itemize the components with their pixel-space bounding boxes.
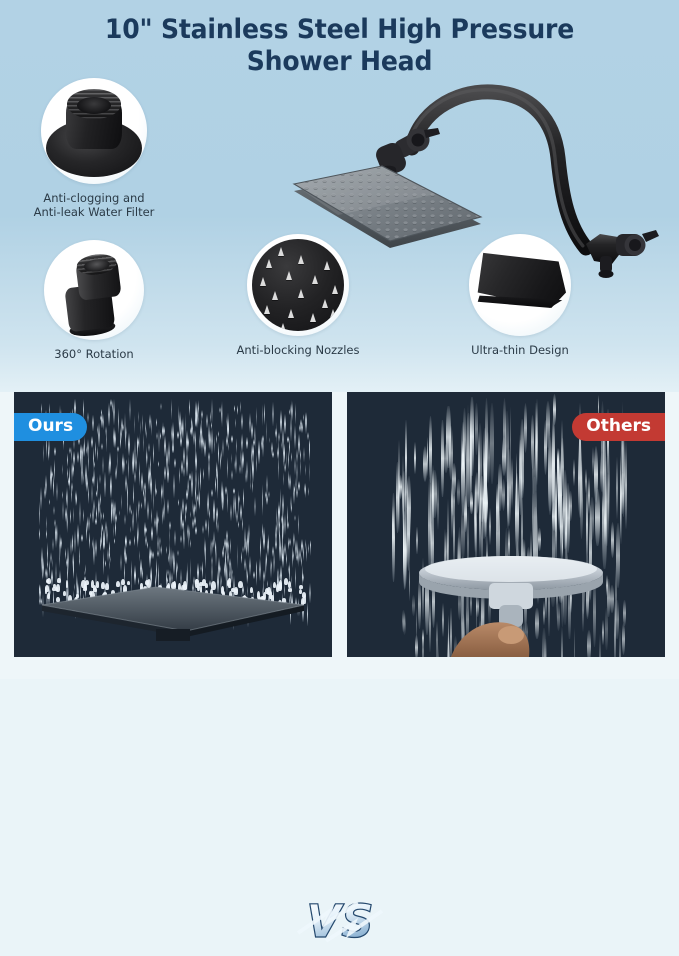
water-drop (234, 405, 235, 413)
page-title: 10" Stainless Steel High Pressure Shower… (24, 14, 655, 78)
water-stream (465, 466, 467, 540)
water-drop (264, 403, 265, 425)
water-drop (242, 451, 244, 469)
water-stream (486, 432, 490, 484)
water-drop (119, 510, 121, 517)
water-drop (85, 464, 87, 487)
water-drop (39, 528, 40, 540)
water-drop (95, 539, 97, 557)
water-drop (238, 521, 239, 528)
water-drop (114, 430, 116, 448)
water-drop (208, 518, 209, 538)
comparison-panel-others: Others (347, 392, 665, 657)
water-stream (605, 457, 609, 546)
water-drop (292, 545, 293, 568)
water-drop (238, 495, 240, 503)
water-stream (392, 493, 395, 583)
water-drop (256, 452, 258, 474)
water-drop (275, 524, 277, 546)
water-drop (74, 530, 76, 553)
water-drop (129, 539, 131, 546)
water-drop (156, 418, 157, 427)
feature-label-ultra-thin: Ultra-thin Design (440, 343, 600, 357)
water-drop (171, 399, 172, 420)
water-drop (193, 503, 195, 518)
water-drop (67, 511, 68, 533)
water-drop (131, 560, 132, 583)
water-drop (80, 444, 82, 459)
water-stream (414, 442, 416, 474)
water-drop (253, 571, 255, 579)
water-drop (142, 567, 143, 580)
water-drop (52, 538, 54, 551)
water-drop (304, 483, 306, 495)
water-drop (211, 428, 213, 454)
water-drop (69, 447, 71, 454)
water-drop (219, 565, 220, 573)
water-drop (140, 420, 142, 435)
water-drop (191, 420, 193, 437)
water-drop (243, 488, 244, 509)
water-drop (60, 537, 62, 549)
water-drop (231, 453, 233, 464)
water-drop (258, 440, 260, 465)
water-drop (164, 466, 166, 480)
water-drop (178, 499, 180, 506)
water-drop (241, 413, 243, 430)
feature-label-anti-clogging-filter: Anti-clogging and Anti-leak Water Filter (14, 191, 174, 219)
water-drop (100, 536, 102, 545)
water-drop (231, 435, 233, 443)
water-drop (222, 486, 223, 503)
water-drop (195, 401, 197, 426)
water-stream (573, 459, 575, 486)
water-drop (287, 436, 289, 443)
water-drop (44, 512, 45, 531)
water-drop (75, 490, 77, 506)
swivel-connector-icon (44, 240, 144, 340)
water-stream (520, 419, 524, 498)
water-drop (128, 433, 130, 456)
nozzle-cone (272, 291, 278, 300)
water-drop (99, 474, 101, 484)
water-drop (162, 426, 164, 436)
water-drop (262, 492, 264, 515)
water-drop (256, 407, 257, 426)
water-drop (246, 541, 247, 556)
water-stream (511, 458, 513, 508)
water-drop (156, 488, 157, 495)
water-drop (205, 519, 207, 531)
water-drop (186, 430, 188, 454)
water-drop (305, 464, 306, 476)
water-drop (114, 538, 115, 544)
water-drop (242, 517, 243, 531)
water-drop (159, 537, 160, 559)
water-drop (177, 562, 178, 573)
water-drop (124, 545, 126, 562)
nozzle-cone (278, 247, 284, 256)
water-drop (117, 446, 119, 452)
water-drop (249, 556, 251, 576)
water-drop (180, 535, 182, 543)
water-drop (148, 443, 149, 452)
water-stream-lower (403, 613, 406, 635)
water-drop (183, 465, 185, 477)
water-drop (85, 564, 86, 575)
water-stream-lower (615, 600, 618, 639)
water-drop (298, 434, 300, 455)
water-drop (211, 489, 213, 497)
water-drop (100, 493, 101, 507)
water-drop (266, 420, 267, 443)
water-drop (274, 551, 275, 573)
water-drop (303, 447, 305, 462)
water-drop (53, 506, 55, 515)
water-drop (152, 551, 154, 559)
water-drop (296, 487, 297, 497)
water-drop (161, 544, 163, 556)
water-drop (289, 538, 291, 546)
water-drop (149, 467, 151, 481)
water-drop (90, 512, 92, 520)
water-drop (218, 431, 219, 437)
water-drop (189, 399, 190, 416)
water-stream (470, 492, 473, 515)
water-drop (67, 547, 69, 573)
water-filter-connector-icon (41, 78, 147, 184)
water-drop (70, 509, 71, 524)
water-drop (141, 472, 143, 492)
water-drop (182, 417, 184, 440)
water-drop (166, 546, 168, 554)
water-stream (402, 456, 404, 530)
water-drop (138, 500, 140, 511)
water-drop (173, 474, 175, 498)
nozzle-cone (260, 277, 266, 286)
water-drop (309, 438, 310, 462)
water-drop (205, 549, 206, 569)
water-drop (62, 501, 64, 520)
water-stream-lower (623, 600, 626, 626)
vs-graphic: VS (296, 889, 384, 951)
water-drop (134, 535, 135, 546)
water-drop (212, 539, 214, 548)
water-drop (79, 558, 80, 565)
water-drop (73, 507, 74, 523)
water-drop (282, 427, 284, 452)
water-drop (183, 447, 184, 466)
water-drop (242, 546, 244, 553)
nozzle-cone (298, 289, 304, 298)
water-drop (151, 526, 153, 541)
water-drop (259, 558, 261, 581)
water-drop (104, 472, 105, 497)
water-drop (91, 483, 93, 504)
water-stream (407, 476, 411, 540)
water-drop (289, 409, 290, 416)
top-section: 10" Stainless Steel High Pressure Shower… (0, 0, 679, 392)
water-drop (294, 486, 295, 493)
water-drop (49, 560, 51, 577)
badge-ours: Ours (14, 413, 87, 441)
water-drop (263, 533, 265, 550)
water-drop (97, 476, 98, 498)
water-drop (230, 504, 232, 521)
water-drop (145, 527, 147, 534)
water-drop (248, 524, 250, 543)
water-drop (308, 487, 309, 496)
water-drop (40, 487, 42, 511)
water-drop (65, 548, 66, 559)
badge-others: Others (572, 413, 665, 441)
water-stream (437, 479, 440, 530)
water-stream-lower (611, 522, 615, 557)
water-drop (284, 399, 285, 413)
water-drop (117, 450, 118, 472)
water-drop (83, 472, 84, 484)
comparison-section: Ours (0, 392, 679, 679)
water-drop (113, 399, 115, 425)
nozzle-cone (322, 299, 328, 308)
water-drop (56, 482, 58, 501)
water-drop (269, 437, 271, 443)
water-stream (482, 497, 486, 539)
water-drop (95, 518, 97, 525)
water-drop (228, 442, 230, 452)
water-drop (195, 526, 197, 535)
water-drop (225, 486, 227, 495)
water-drop (62, 491, 63, 499)
water-drop (110, 556, 111, 563)
water-drop (113, 524, 114, 539)
feature-label-nozzles: Anti-blocking Nozzles (218, 343, 378, 357)
water-drop (97, 446, 98, 462)
water-drop (98, 423, 99, 447)
water-drop (222, 548, 224, 558)
shower-head-ours (36, 581, 310, 641)
water-drop (141, 502, 142, 509)
water-drop (129, 399, 131, 421)
water-drop (294, 515, 296, 521)
feature-label-rotation: 360° Rotation (14, 347, 174, 361)
water-drop (203, 468, 204, 480)
water-drop (151, 508, 152, 524)
water-drop (271, 442, 272, 455)
water-drop (295, 403, 296, 425)
water-stream (470, 397, 473, 476)
water-drop (237, 544, 239, 570)
water-drop (92, 507, 93, 523)
water-drop (191, 471, 193, 497)
water-drop (43, 444, 44, 462)
water-drop (292, 426, 293, 443)
water-drop (202, 561, 204, 579)
water-drop (128, 456, 129, 480)
water-drop (237, 405, 238, 415)
water-drop (145, 421, 146, 436)
comparison-panel-ours: Ours (14, 392, 332, 657)
water-drop (149, 414, 151, 429)
water-drop (130, 526, 131, 533)
nozzle-cone (310, 313, 316, 322)
water-drop (217, 475, 219, 500)
water-drop (53, 474, 54, 497)
water-drop (278, 438, 280, 459)
water-drop (291, 452, 292, 462)
water-drop (174, 530, 176, 546)
water-drop (73, 451, 75, 466)
nozzle-cone (330, 309, 336, 318)
water-drop (252, 456, 254, 482)
water-drop (156, 510, 158, 536)
water-drop (186, 451, 188, 476)
water-drop (217, 507, 218, 517)
water-drop (125, 426, 127, 439)
water-drop (287, 521, 289, 529)
water-stream (423, 446, 428, 482)
water-drop (115, 513, 117, 523)
water-drop (268, 491, 270, 499)
water-drop (120, 434, 121, 450)
water-drop (213, 499, 215, 522)
water-drop (127, 492, 128, 516)
water-drop (215, 543, 217, 566)
water-drop (239, 464, 241, 474)
water-drop (309, 462, 310, 482)
water-drop (242, 433, 244, 452)
water-drop (100, 415, 102, 421)
water-drop (250, 482, 252, 491)
water-drop (138, 527, 139, 542)
water-drop (201, 410, 203, 420)
water-drop (83, 509, 84, 522)
water-drop (147, 501, 149, 521)
water-drop (235, 453, 237, 474)
water-drop (158, 461, 159, 467)
water-drop (95, 441, 97, 458)
water-drop (121, 418, 123, 433)
water-drop (292, 401, 293, 421)
water-drop (147, 541, 148, 550)
water-drop (291, 503, 292, 513)
water-drop (305, 412, 307, 428)
water-drop (260, 536, 261, 559)
water-drop (204, 439, 206, 458)
nozzle-cone (266, 259, 272, 268)
water-drop (73, 552, 74, 573)
water-drop (89, 532, 90, 549)
water-drop (275, 428, 277, 438)
nozzle-cone (280, 323, 286, 331)
water-drop (71, 460, 73, 482)
water-drop (240, 401, 241, 413)
water-stream (429, 416, 432, 483)
water-drop (79, 501, 81, 527)
water-drop (92, 476, 94, 484)
water-drop (45, 568, 47, 578)
water-drop (172, 550, 174, 564)
water-drop (77, 524, 79, 547)
water-drop (81, 460, 83, 485)
water-stream (502, 479, 506, 511)
water-drop (54, 447, 56, 456)
water-drop (150, 549, 152, 559)
water-drop (154, 517, 156, 528)
water-drop (301, 539, 303, 554)
water-drop (49, 499, 50, 505)
water-drop (138, 411, 139, 423)
water-stream (524, 403, 527, 453)
water-drop (67, 453, 68, 467)
water-drop (52, 558, 53, 568)
water-drop (121, 494, 123, 511)
water-drop (289, 474, 291, 491)
water-drop (77, 451, 79, 463)
water-drop (294, 425, 296, 448)
water-drop (305, 539, 306, 550)
water-drop (190, 511, 192, 518)
water-drop (284, 543, 286, 557)
page-title-line1: 10" Stainless Steel High Pressure (105, 14, 574, 45)
water-drop (303, 414, 304, 421)
water-drop (108, 459, 110, 476)
water-drop (296, 461, 298, 484)
water-drop (134, 415, 135, 434)
water-drop (189, 526, 190, 541)
water-drop (300, 449, 302, 461)
shower-head-others (411, 539, 611, 657)
feature-anti-clogging-filter: Anti-clogging and Anti-leak Water Filter (14, 78, 174, 219)
water-stream (531, 415, 534, 469)
water-stream-lower (622, 623, 626, 655)
water-drop (202, 525, 204, 534)
feature-rotation: 360° Rotation (14, 240, 174, 361)
nozzle-cone (264, 305, 270, 314)
water-drop (133, 483, 134, 504)
water-drop (160, 403, 162, 410)
water-drop (230, 538, 231, 555)
water-drop (105, 560, 106, 568)
water-drop (169, 542, 170, 566)
water-drop (83, 443, 84, 457)
water-drop (139, 433, 140, 454)
water-drop (235, 418, 237, 427)
water-drop (87, 516, 88, 531)
water-drop (209, 508, 211, 520)
water-drop (94, 461, 96, 468)
water-drop (208, 490, 209, 510)
water-drop (103, 538, 104, 551)
water-drop (174, 458, 176, 468)
water-drop (101, 443, 103, 451)
water-drop (190, 558, 191, 583)
water-drop (231, 470, 232, 480)
water-drop (254, 497, 256, 516)
water-drop (190, 539, 191, 548)
water-drop (236, 438, 237, 454)
water-drop (182, 498, 184, 516)
water-drop (124, 514, 126, 526)
water-drop (120, 554, 122, 570)
water-drop (151, 417, 152, 436)
water-drop (161, 484, 163, 499)
water-drop (46, 516, 47, 531)
nozzle-cone (288, 309, 294, 318)
water-drop (118, 408, 119, 434)
water-drop (194, 516, 195, 526)
water-drop (151, 478, 152, 502)
